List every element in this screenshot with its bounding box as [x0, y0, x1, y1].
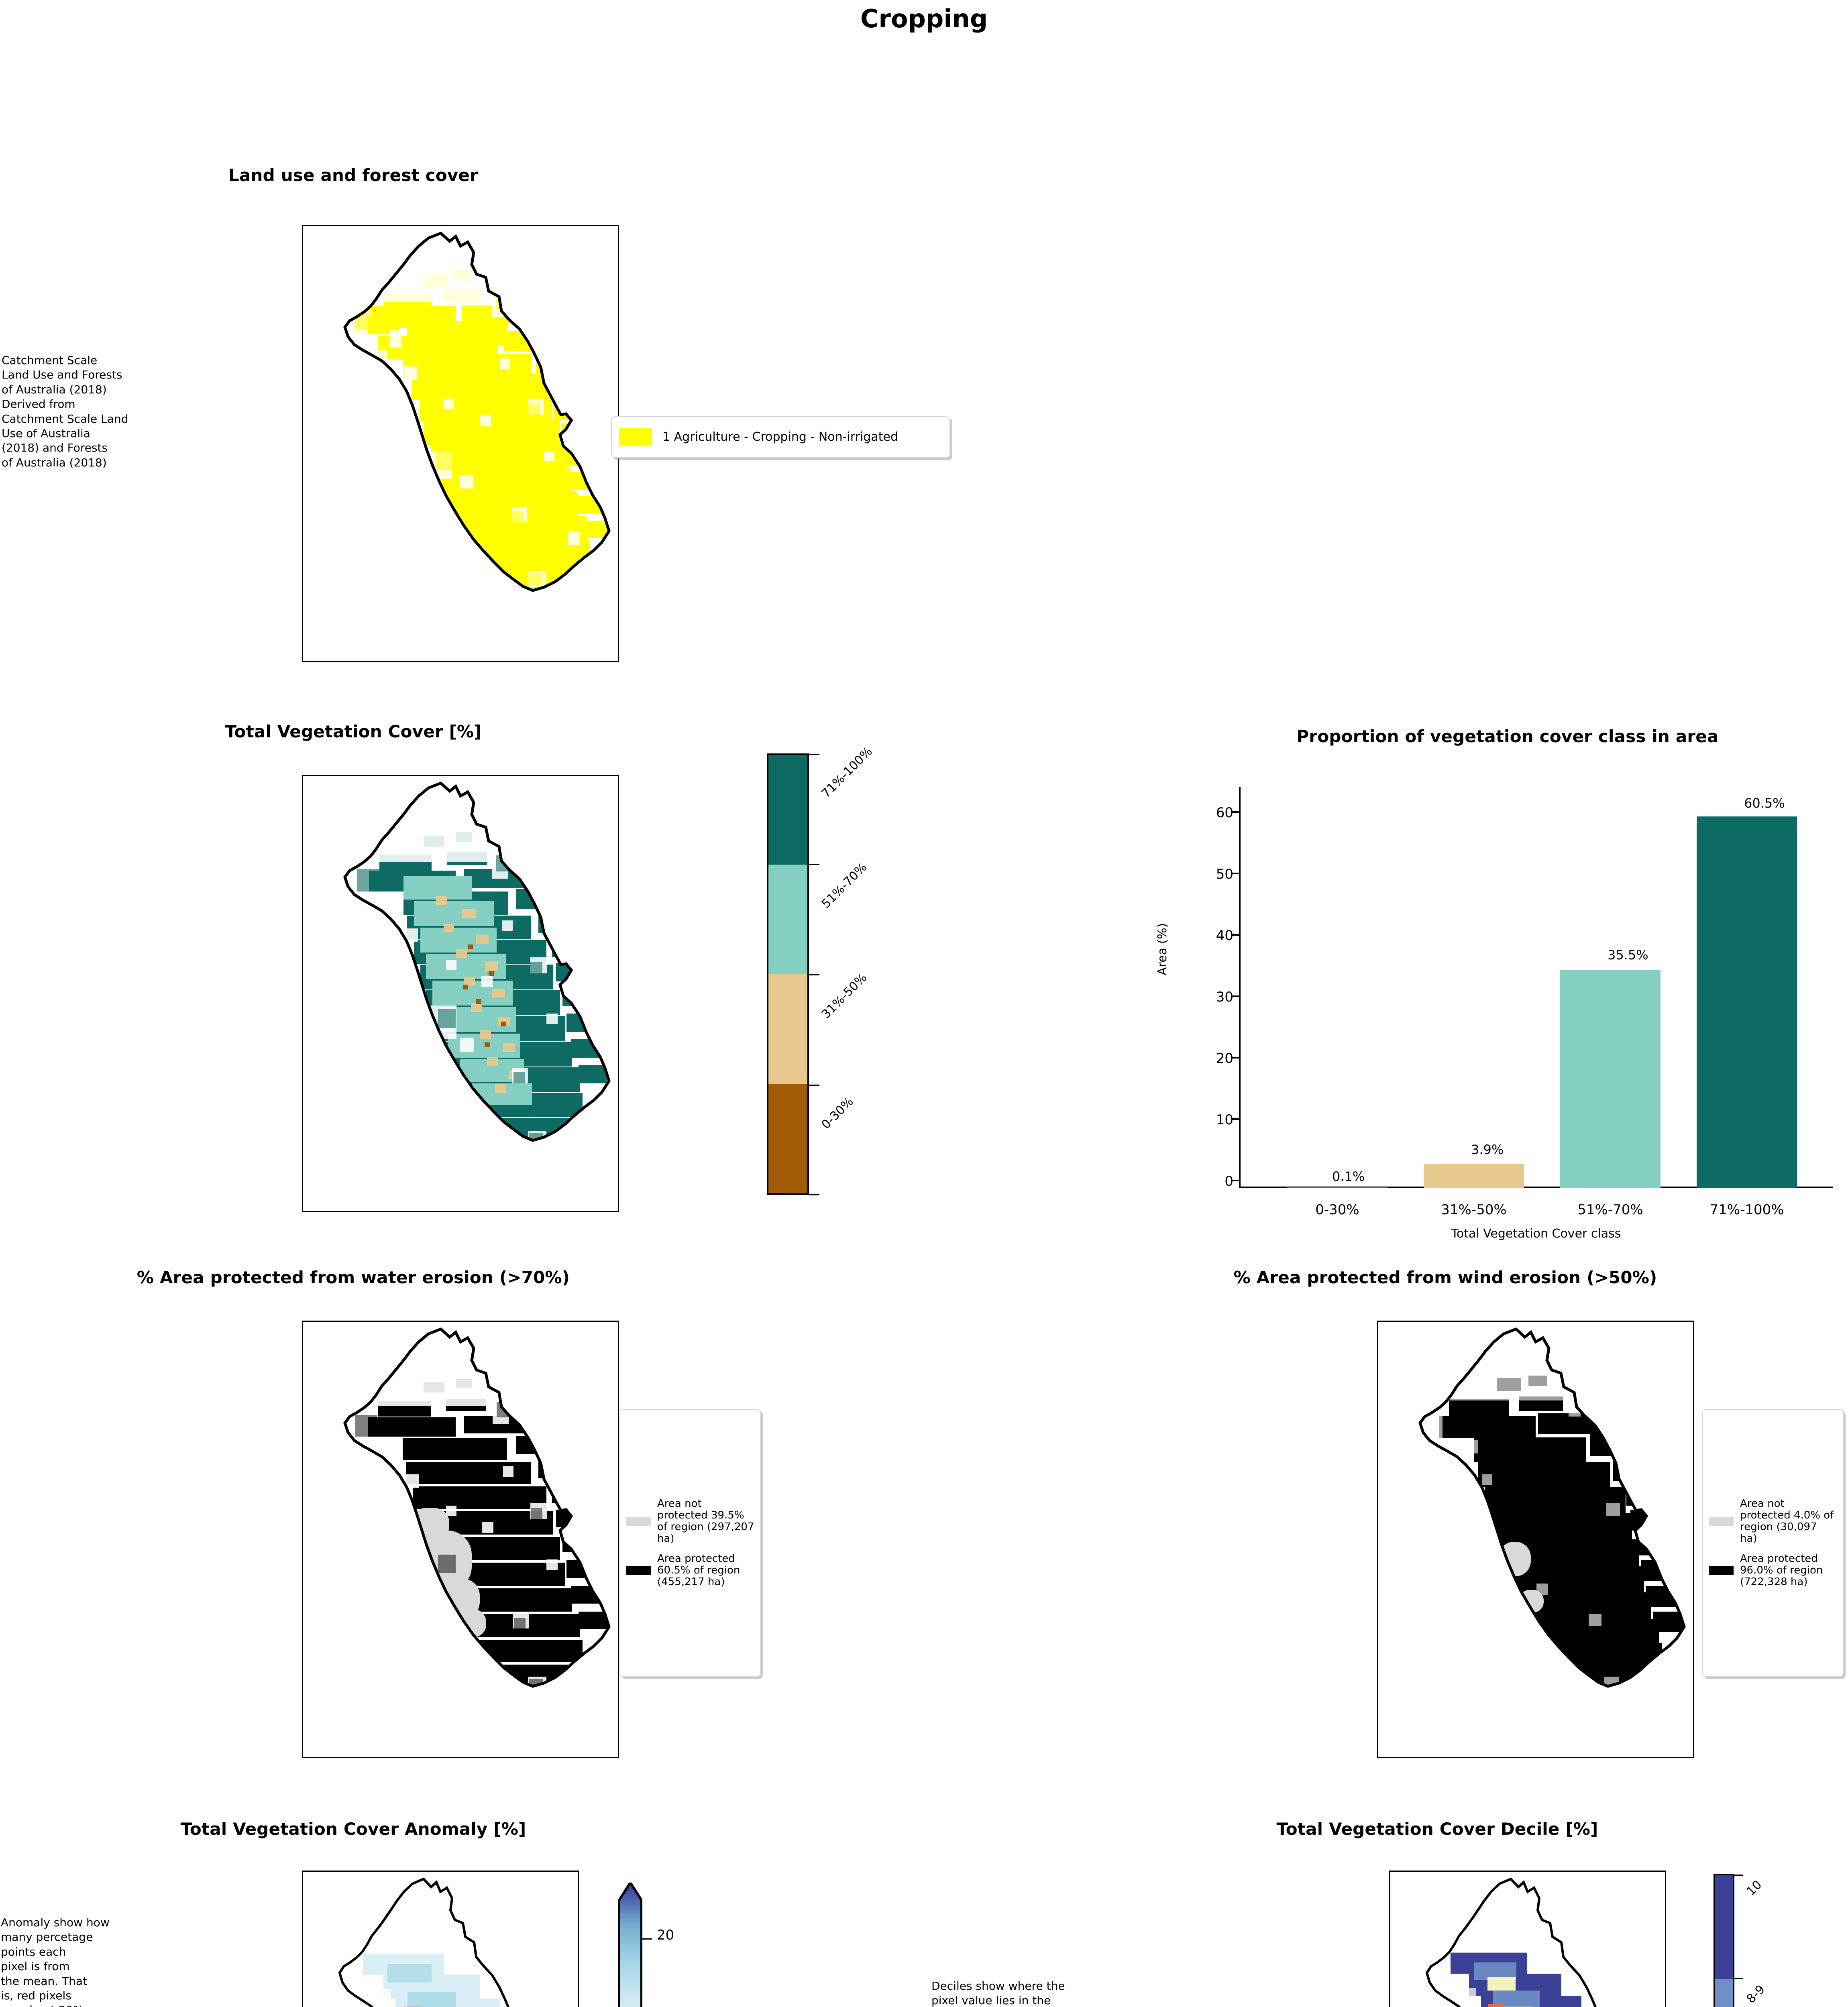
landuse-panel-title: Land use and forest cover [104, 165, 602, 185]
map-tick [302, 1361, 303, 1362]
colorbar-tick [642, 1938, 652, 1940]
map-tick [302, 487, 303, 488]
water-erosion-title: % Area protected from water erosion (>70… [56, 1268, 650, 1287]
legend-label-cropping: 1 Agriculture - Cropping - Non-irrigated [662, 430, 898, 444]
legend-label-protected: Area protected 60.5% of region (455,217 … [657, 1553, 754, 1588]
map-tick [545, 661, 546, 662]
map-tick [473, 661, 474, 662]
map-tick [328, 1757, 329, 1758]
bar-31-50[interactable] [1424, 1164, 1524, 1188]
landuse-source-note: Catchment Scale Land Use and Forests of … [2, 353, 178, 470]
vegcover-colorbar[interactable] [767, 753, 809, 1195]
map-tick [1475, 1757, 1477, 1758]
anomaly-map-svg [303, 1872, 579, 2007]
decile-map[interactable] [1389, 1871, 1666, 2007]
y-tick-label: 0 [1205, 1173, 1233, 1189]
y-tick [1232, 1180, 1239, 1181]
colorbar-tick [809, 1194, 819, 1195]
map-tick [1548, 1757, 1549, 1758]
anomaly-title: Total Vegetation Cover Anomaly [%] [80, 1819, 626, 1839]
map-tick [473, 1211, 474, 1212]
legend-label-not-protected: Area not protected 39.5% of region (297,… [657, 1498, 754, 1545]
colorbar-seg-71-100 [768, 755, 807, 865]
bar-value-label-0-30: 0.1% [1332, 1169, 1365, 1184]
wind-erosion-map-svg [1378, 1322, 1694, 1758]
map-tick [302, 1583, 303, 1584]
legend-swatch-not-protected [1709, 1517, 1734, 1526]
landuse-map-svg [303, 226, 619, 662]
map-tick [302, 339, 303, 340]
anomaly-cb-label-20: 20 [657, 1927, 674, 1943]
map-tick [328, 661, 329, 662]
y-axis-title: Area (%) [1155, 923, 1170, 976]
bar-0-30[interactable] [1287, 1187, 1388, 1188]
decile-colorbar[interactable] [1714, 1874, 1734, 2007]
y-tick [1232, 811, 1239, 813]
bar-value-label-51-70: 35.5% [1608, 947, 1648, 963]
map-tick [302, 1509, 303, 1510]
map-tick [545, 1757, 546, 1758]
y-tick [1232, 1118, 1239, 1120]
x-tick-label-0-30: 0-30% [1287, 1202, 1388, 1218]
vegcover-map[interactable] [302, 775, 619, 1212]
y-tick-label: 30 [1195, 989, 1233, 1005]
bar-51-70[interactable] [1560, 970, 1661, 1188]
map-tick [1403, 1757, 1404, 1758]
colorbar-label-31-50: 31%-50% [819, 971, 870, 1022]
legend-label-not-protected: Area not protected 4.0% of region (30,09… [1740, 1498, 1837, 1545]
map-tick [302, 1111, 303, 1112]
map-tick [1377, 1435, 1378, 1436]
wind-erosion-title: % Area protected from wind erosion (>50%… [1148, 1268, 1742, 1287]
map-tick [302, 1657, 303, 1658]
colorbar-seg-51-70 [768, 865, 807, 974]
x-tick-label-71-100: 71%-100% [1697, 1202, 1797, 1218]
y-tick-label: 20 [1195, 1050, 1233, 1067]
y-tick-label: 10 [1195, 1112, 1233, 1128]
y-tick [1232, 1057, 1239, 1058]
colorbar-tick [809, 864, 819, 865]
legend-swatch-cropping [619, 428, 652, 446]
decile-cb-label-8-9: 8-9 [1744, 1982, 1768, 2006]
decile-cb-label-10: 10 [1744, 1878, 1765, 1899]
colorbar-tick [809, 754, 819, 755]
map-tick [302, 1435, 303, 1436]
decile-note: Deciles show where the pixel value lies … [931, 1979, 1132, 2007]
map-tick [302, 1911, 303, 1912]
colorbar-label-71-100: 71%-100% [819, 745, 875, 801]
colorbar-label-51-70: 51%-70% [819, 860, 870, 911]
legend-label-protected: Area protected 96.0% of region (722,328 … [1740, 1553, 1837, 1588]
map-tick [302, 265, 303, 266]
anomaly-colorbar-svg [618, 1883, 642, 2007]
x-tick-label-51-70: 51%-70% [1560, 1202, 1661, 1218]
y-tick [1232, 873, 1239, 874]
colorbar-tick [809, 974, 819, 975]
vegcover-pixel-layer [303, 776, 619, 1212]
map-tick [302, 1985, 303, 1986]
map-tick [302, 815, 303, 816]
colorbar-seg-8-9 [1715, 1979, 1733, 2007]
map-tick [400, 1757, 401, 1758]
map-tick [1377, 1509, 1378, 1510]
map-tick [302, 561, 303, 562]
map-tick [1377, 1361, 1378, 1362]
map-tick [1389, 1985, 1390, 1986]
page-title: Cropping [0, 4, 1848, 33]
landuse-legend[interactable]: 1 Agriculture - Cropping - Non-irrigated [611, 416, 950, 458]
bar-71-100[interactable] [1697, 816, 1797, 1188]
colorbar-tick [809, 1085, 819, 1086]
map-tick [302, 889, 303, 890]
wind-erosion-pixel-layer [1378, 1322, 1694, 1758]
decile-map-svg [1390, 1872, 1666, 2007]
map-tick [302, 1037, 303, 1038]
wind-erosion-map[interactable] [1377, 1321, 1694, 1758]
barchart-title: Proportion of vegetation cover class in … [1176, 727, 1839, 746]
wind-erosion-legend[interactable]: Area not protected 4.0% of region (30,09… [1702, 1409, 1844, 1677]
colorbar-seg-0-30 [768, 1084, 807, 1193]
colorbar-tick [1734, 1978, 1743, 1979]
y-tick-label: 40 [1195, 928, 1233, 944]
bar-value-label-71-100: 60.5% [1744, 796, 1785, 811]
colorbar-tick [1734, 1875, 1743, 1876]
water-erosion-legend[interactable]: Area not protected 39.5% of region (297,… [619, 1409, 761, 1677]
anomaly-note: Anomaly show how many percetage points e… [1, 1915, 169, 2007]
cropping-pixel-layer [303, 226, 619, 662]
map-tick [328, 1211, 329, 1212]
anomaly-map[interactable] [302, 1871, 579, 2007]
anomaly-colorbar[interactable] [618, 1883, 642, 2007]
colorbar-seg-31-50 [768, 974, 807, 1084]
colorbar-label-0-30: 0-30% [819, 1095, 856, 1132]
water-erosion-map-svg [303, 1322, 619, 1758]
barchart[interactable]: 0 10 20 30 40 50 60 0.1% 3.9% 35.5% 60.5… [1239, 787, 1833, 1196]
map-tick [1389, 1911, 1390, 1912]
water-erosion-map[interactable] [302, 1321, 619, 1758]
legend-swatch-protected [1709, 1566, 1734, 1575]
y-tick [1232, 934, 1239, 936]
x-tick-label-31-50: 31%-50% [1424, 1202, 1524, 1218]
map-tick [400, 661, 401, 662]
map-tick [302, 963, 303, 964]
legend-swatch-protected [626, 1566, 651, 1575]
decile-title: Total Vegetation Cover Decile [%] [1164, 1819, 1710, 1839]
map-tick [473, 1757, 474, 1758]
y-tick [1232, 995, 1239, 997]
map-tick [302, 413, 303, 414]
map-tick [1377, 1583, 1378, 1584]
x-axis-title: Total Vegetation Cover class [1239, 1227, 1833, 1241]
bar-value-label-31-50: 3.9% [1471, 1142, 1504, 1157]
map-tick [1620, 1757, 1621, 1758]
vegcover-panel-title: Total Vegetation Cover [%] [100, 722, 606, 741]
y-tick-label: 60 [1195, 805, 1233, 821]
map-tick [1377, 1657, 1378, 1658]
y-axis-line [1239, 787, 1241, 1188]
map-tick [545, 1211, 546, 1212]
legend-swatch-not-protected [626, 1517, 651, 1526]
map-tick [400, 1211, 401, 1212]
water-erosion-pixel-layer [303, 1322, 619, 1758]
colorbar-seg-10 [1715, 1875, 1733, 1979]
landuse-map[interactable] [302, 225, 619, 662]
y-tick-label: 50 [1195, 866, 1233, 882]
vegcover-map-svg [303, 776, 619, 1212]
